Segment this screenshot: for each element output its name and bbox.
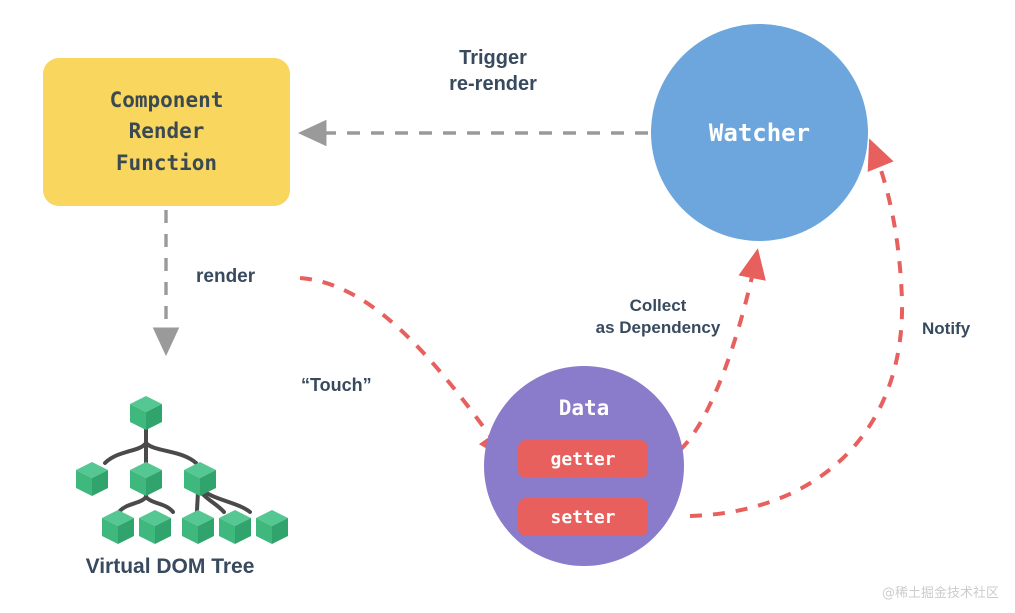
getter-box[interactable]: getter — [518, 440, 648, 478]
diagram-canvas: Component Render Function Watcher Data g… — [0, 0, 1015, 613]
edge-label-touch: “Touch” — [301, 374, 372, 398]
virtual-dom-tree-label: Virtual DOM Tree — [40, 555, 300, 579]
setter-box[interactable]: setter — [518, 498, 648, 536]
edge-label-notify: Notify — [922, 318, 970, 340]
data-label: Data — [484, 396, 684, 420]
vdom-tree-links — [105, 428, 250, 512]
edge-touch — [300, 278, 505, 457]
component-render-function-node[interactable]: Component Render Function — [43, 58, 290, 206]
watcher-label: Watcher — [709, 119, 810, 147]
edge-label-trigger-re-render: Trigger re-render — [423, 45, 563, 98]
edge-label-render: render — [196, 264, 255, 289]
component-render-function-label: Component Render Function — [110, 85, 224, 178]
edge-collect-as-dependency — [680, 253, 757, 450]
watermark: @稀土掘金技术社区 — [882, 582, 999, 601]
watcher-node[interactable]: Watcher — [651, 24, 868, 241]
vdom-tree-cubes — [76, 396, 288, 544]
edge-label-collect-as-dependency: Collect as Dependency — [578, 295, 738, 340]
data-node[interactable]: Data getter setter — [484, 366, 684, 566]
